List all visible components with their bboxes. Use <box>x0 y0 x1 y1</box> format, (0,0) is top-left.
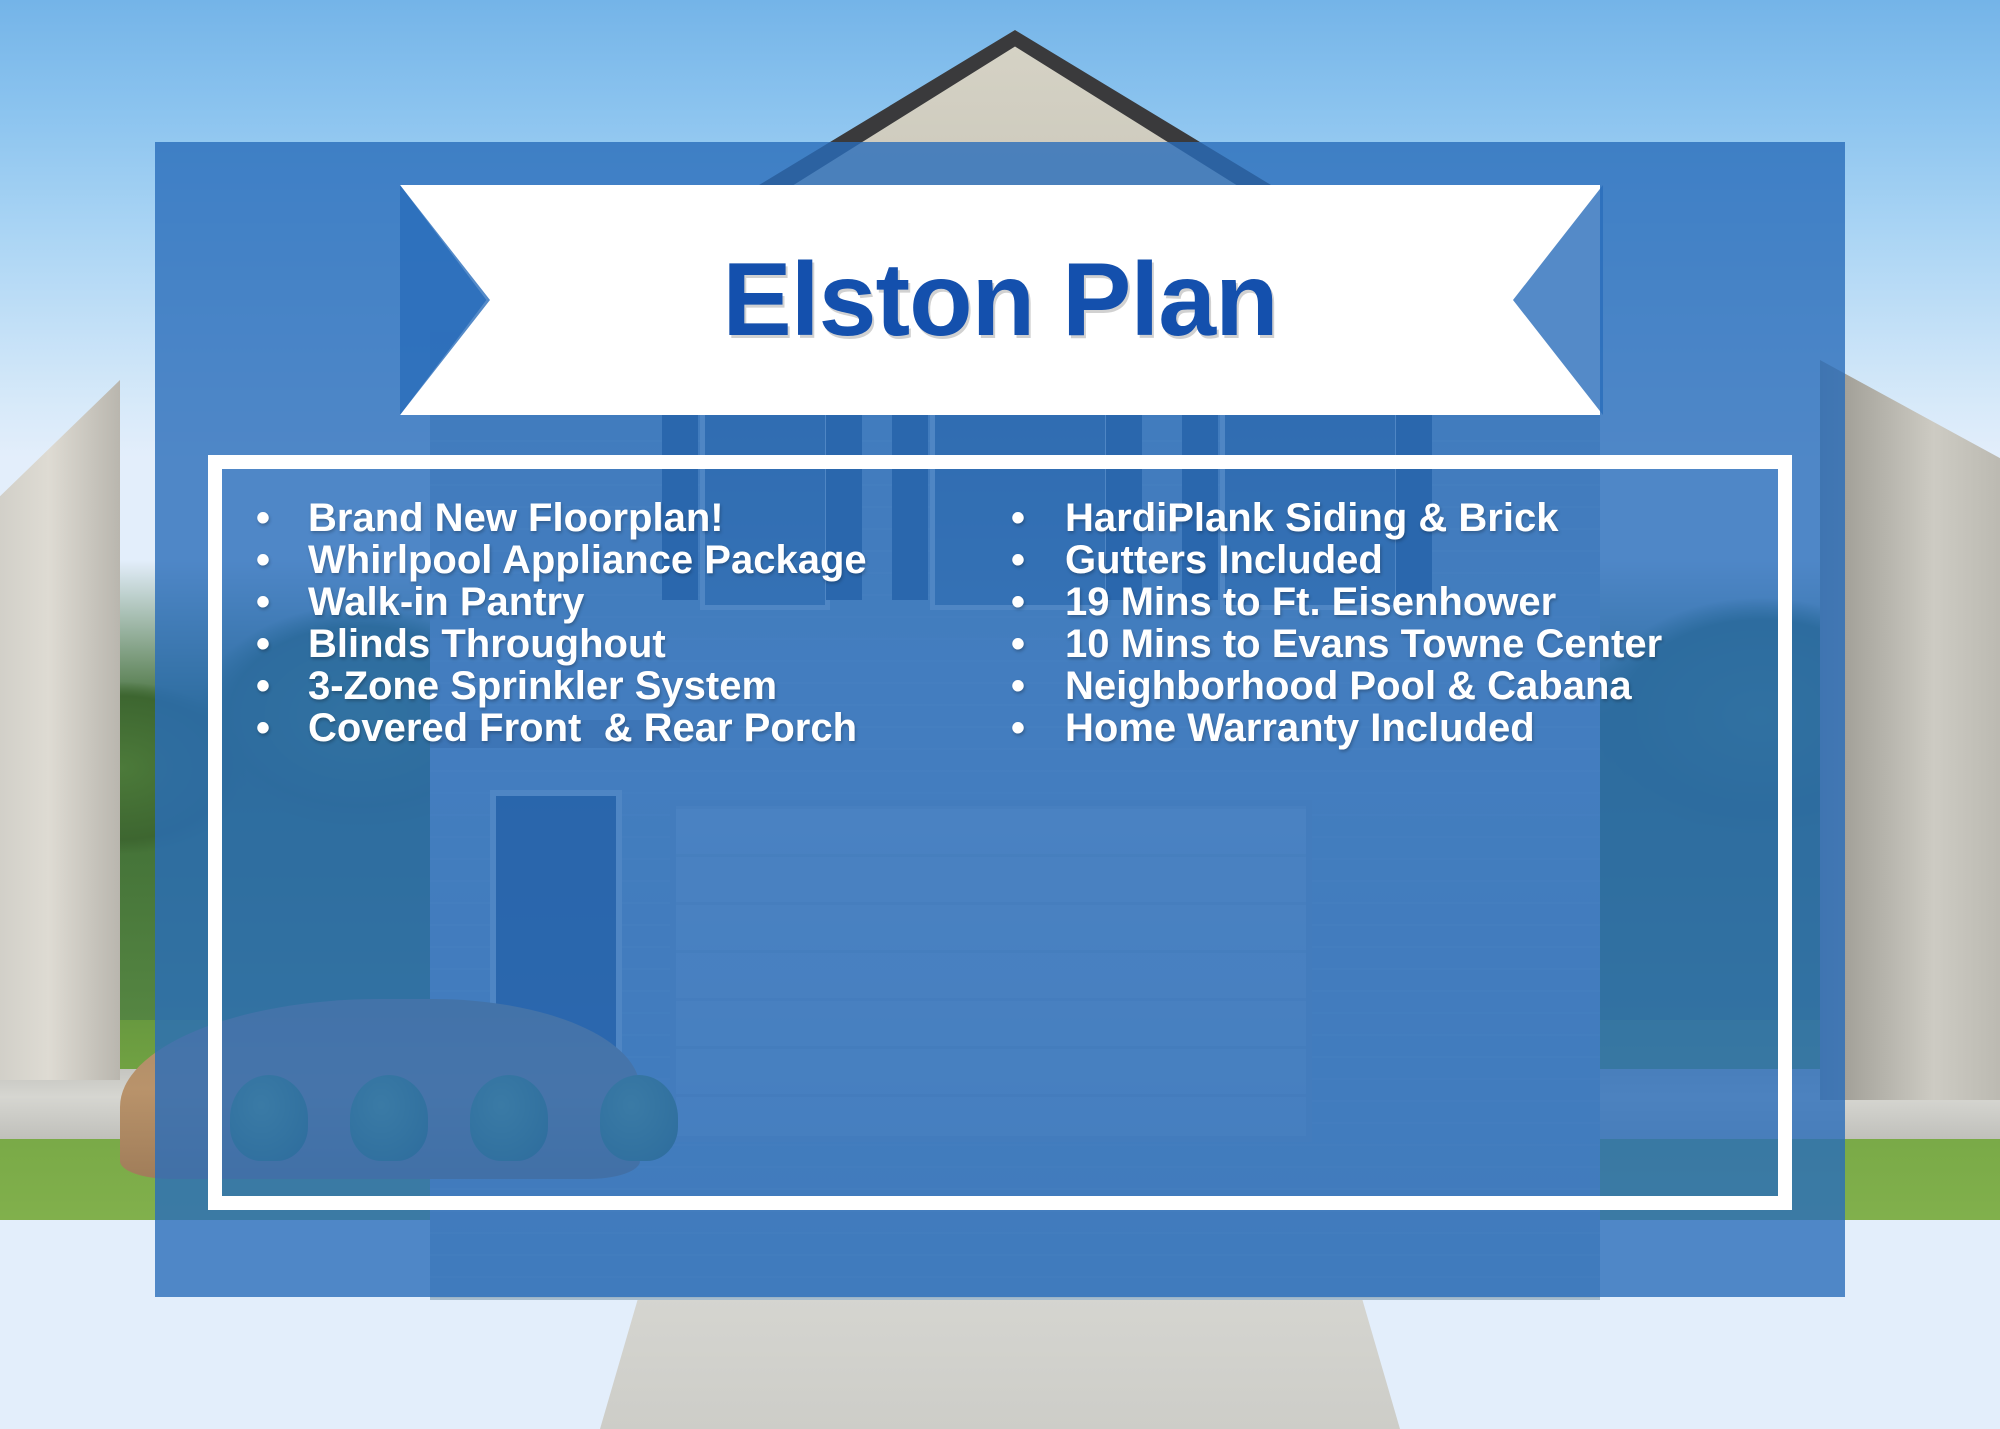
list-item: • Whirlpool Appliance Package <box>256 539 991 581</box>
bullet-dot-icon: • <box>1011 708 1065 748</box>
list-item-label: 3-Zone Sprinkler System <box>308 665 777 707</box>
list-item: • Covered Front & Rear Porch <box>256 707 991 749</box>
bullet-dot-icon: • <box>256 666 308 706</box>
list-item-label: Gutters Included <box>1065 539 1383 581</box>
neighbor-house-right <box>1820 360 2000 1100</box>
bullet-dot-icon: • <box>1011 498 1065 538</box>
bullet-dot-icon: • <box>1011 666 1065 706</box>
list-item-label: Whirlpool Appliance Package <box>308 539 867 581</box>
bullet-dot-icon: • <box>1011 540 1065 580</box>
bullet-dot-icon: • <box>256 540 308 580</box>
list-item-label: Brand New Floorplan! <box>308 497 724 539</box>
list-item: • Walk-in Pantry <box>256 581 991 623</box>
flyer-canvas: Elston Plan • Brand New Floorplan! • Whi… <box>0 0 2000 1429</box>
bullet-dot-icon: • <box>256 708 308 748</box>
features-column-left: • Brand New Floorplan! • Whirlpool Appli… <box>256 497 991 749</box>
features-column-right: • HardiPlank Siding & Brick • Gutters In… <box>1011 497 1746 749</box>
features-list: • Brand New Floorplan! • Whirlpool Appli… <box>208 455 1792 1210</box>
neighbor-house-left <box>0 380 120 1080</box>
bullet-dot-icon: • <box>256 498 308 538</box>
list-item: • Neighborhood Pool & Cabana <box>1011 665 1746 707</box>
page-title: Elston Plan <box>722 248 1277 352</box>
list-item: • 19 Mins to Ft. Eisenhower <box>1011 581 1746 623</box>
list-item: • 10 Mins to Evans Towne Center <box>1011 623 1746 665</box>
list-item: • Brand New Floorplan! <box>256 497 991 539</box>
bullet-dot-icon: • <box>1011 624 1065 664</box>
list-item-label: Home Warranty Included <box>1065 707 1535 749</box>
list-item: • HardiPlank Siding & Brick <box>1011 497 1746 539</box>
list-item: • Home Warranty Included <box>1011 707 1746 749</box>
list-item-label: Walk-in Pantry <box>308 581 584 623</box>
list-item: • Gutters Included <box>1011 539 1746 581</box>
list-item: • 3-Zone Sprinkler System <box>256 665 991 707</box>
list-item-label: 10 Mins to Evans Towne Center <box>1065 623 1662 665</box>
list-item: • Blinds Throughout <box>256 623 991 665</box>
bullet-dot-icon: • <box>256 582 308 622</box>
list-item-label: Covered Front & Rear Porch <box>308 707 857 749</box>
list-item-label: HardiPlank Siding & Brick <box>1065 497 1558 539</box>
list-item-label: Blinds Throughout <box>308 623 666 665</box>
bullet-dot-icon: • <box>1011 582 1065 622</box>
bullet-dot-icon: • <box>256 624 308 664</box>
title-ribbon-content: Elston Plan <box>400 185 1600 415</box>
list-item-label: Neighborhood Pool & Cabana <box>1065 665 1632 707</box>
list-item-label: 19 Mins to Ft. Eisenhower <box>1065 581 1556 623</box>
